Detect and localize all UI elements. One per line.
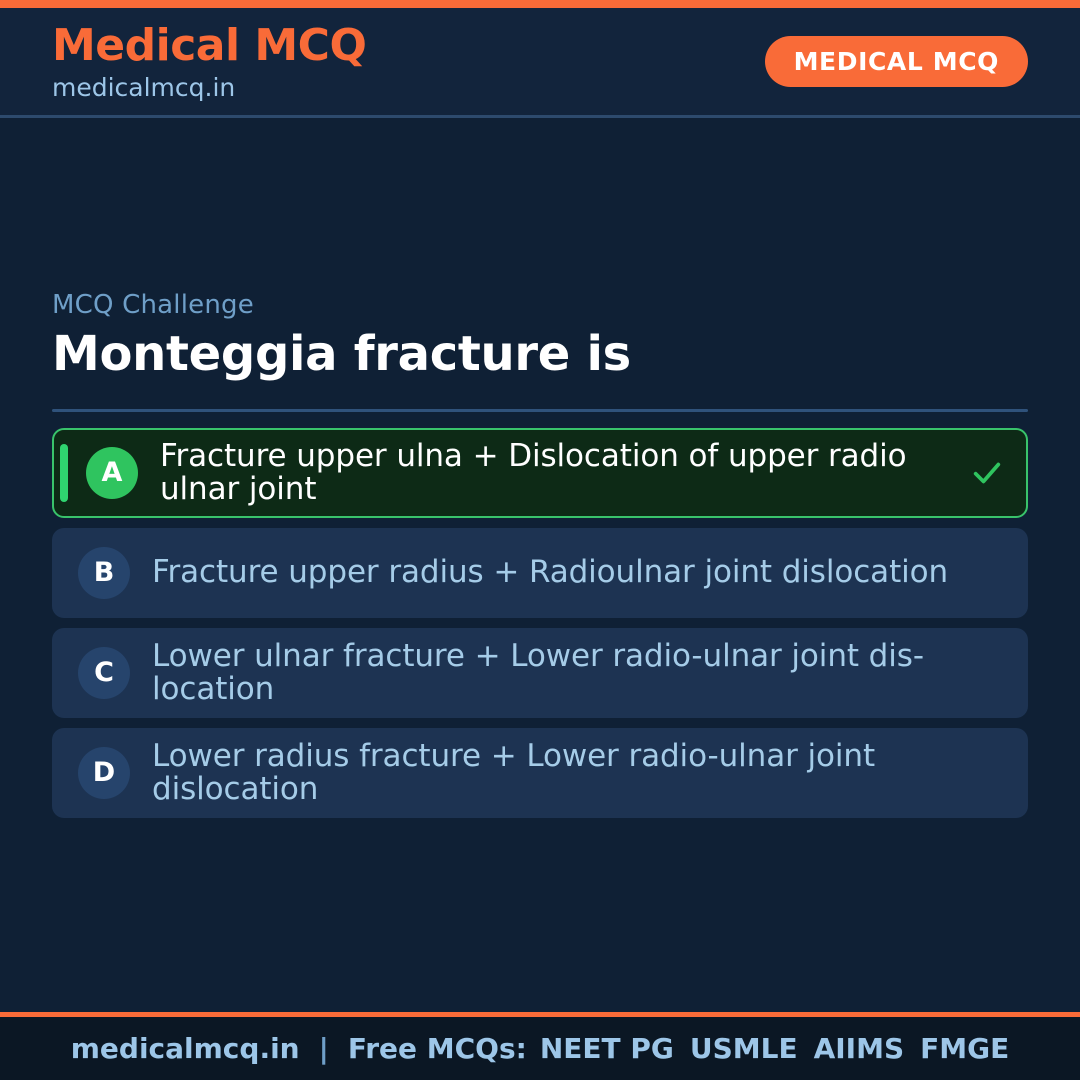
- footer-exam-item: NEET PG: [540, 1032, 674, 1065]
- option-row-c[interactable]: C Lower ulnar fracture + Lower radio-uln…: [52, 628, 1028, 718]
- option-text-c: Lower ulnar fracture + Lower radio-ulnar…: [152, 640, 972, 706]
- footer-exam-list: NEET PG USMLE AIIMS FMGE: [540, 1032, 1009, 1065]
- question-text: Monteggia fracture is: [52, 328, 1028, 382]
- option-text-b: Fracture upper radius + Radioulnar joint…: [152, 556, 948, 589]
- footer-exam-item: AIIMS: [814, 1032, 905, 1065]
- footer-label: Free MCQs:: [348, 1032, 527, 1065]
- option-letter-badge-c: C: [78, 647, 130, 699]
- option-letter-badge-d: D: [78, 747, 130, 799]
- main-content: MCQ Challenge Monteggia fracture is A Fr…: [0, 118, 1080, 1012]
- option-row-a[interactable]: A Fracture upper ulna + Dislocation of u…: [52, 428, 1028, 518]
- brand-title: Medical MCQ: [52, 24, 366, 68]
- option-text-a: Fracture upper ulna + Dislocation of upp…: [160, 440, 970, 506]
- footer-exam-item: FMGE: [920, 1032, 1009, 1065]
- header-bar: Medical MCQ medicalmcq.in MEDICAL MCQ: [0, 8, 1080, 118]
- footer-site: medicalmcq.in: [71, 1032, 300, 1065]
- brand-subtitle: medicalmcq.in: [52, 75, 366, 100]
- footer-bar: medicalmcq.in | Free MCQs: NEET PG USMLE…: [0, 1012, 1080, 1080]
- footer-content: medicalmcq.in | Free MCQs: NEET PG USMLE…: [71, 1032, 1010, 1065]
- mcq-card: Medical MCQ medicalmcq.in MEDICAL MCQ MC…: [0, 0, 1080, 1080]
- question-block: MCQ Challenge Monteggia fracture is: [52, 290, 1028, 428]
- option-row-b[interactable]: B Fracture upper radius + Radioulnar joi…: [52, 528, 1028, 618]
- footer-exam-item: USMLE: [690, 1032, 798, 1065]
- option-row-d[interactable]: D Lower radius fracture + Lower radio-ul…: [52, 728, 1028, 818]
- option-letter-badge-a: A: [86, 447, 138, 499]
- question-eyebrow: MCQ Challenge: [52, 290, 1028, 320]
- footer-separator: |: [313, 1032, 335, 1065]
- options-list: A Fracture upper ulna + Dislocation of u…: [52, 428, 1028, 818]
- brand-pill-badge: MEDICAL MCQ: [765, 36, 1028, 87]
- question-divider: [52, 409, 1028, 412]
- check-icon: [970, 456, 1004, 490]
- option-text-d: Lower radius fracture + Lower radio-ulna…: [152, 740, 972, 806]
- top-accent-stripe: [0, 0, 1080, 8]
- option-letter-badge-b: B: [78, 547, 130, 599]
- brand-block: Medical MCQ medicalmcq.in: [52, 24, 366, 100]
